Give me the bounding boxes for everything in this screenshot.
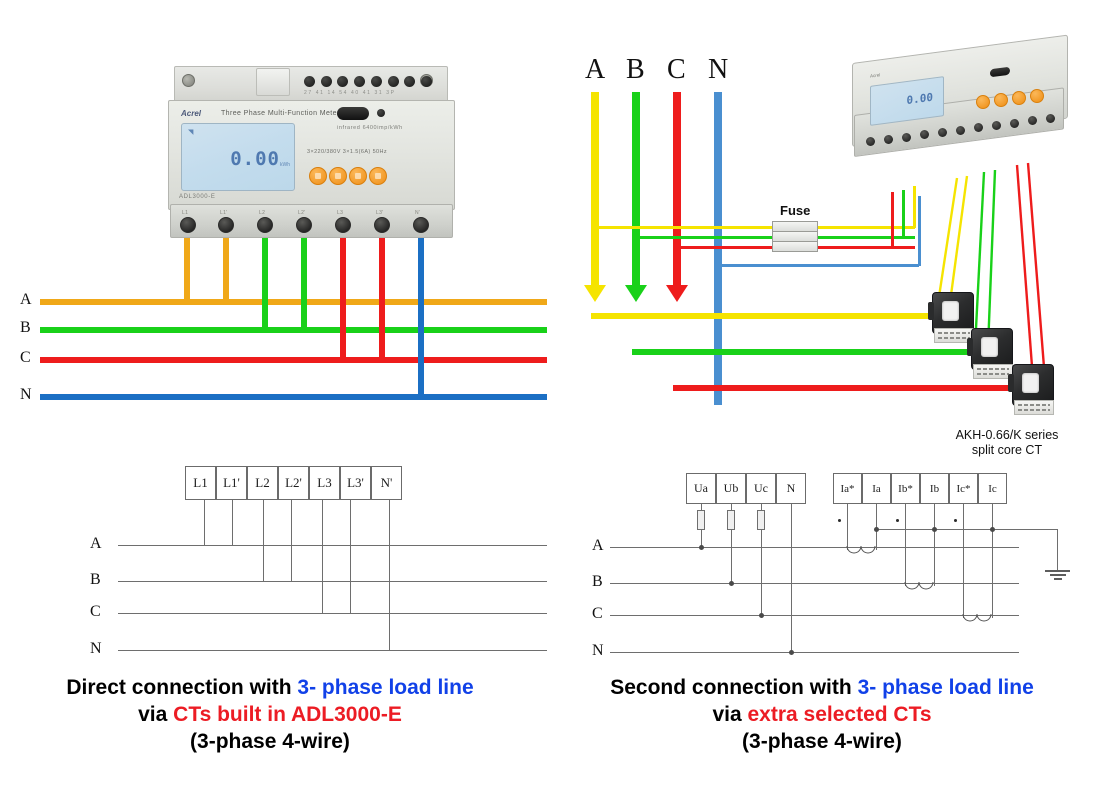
left-caption-line3: (3-phase 4-wire): [10, 728, 530, 755]
schematic-terminal-l1p: L1': [216, 466, 247, 500]
schematic-terminal-l3: L3: [309, 466, 340, 500]
polarity-dot-ic: [954, 519, 957, 522]
schematic-drop-l3: [322, 500, 323, 614]
schematic-node-uc: [759, 613, 764, 618]
schematic-right-row-b: [610, 583, 1019, 584]
schematic-terminal-ib-star: Ib*: [891, 473, 920, 504]
schematic-right-label-a: A: [592, 537, 604, 555]
schematic-terminal-ub: Ub: [716, 473, 746, 504]
schematic-terminal-l2p: L2': [278, 466, 309, 500]
schematic-terminal-l3p: L3': [340, 466, 371, 500]
schematic-terminal-l1: L1: [185, 466, 216, 500]
right-schematic: Ua Ub Uc N Ia* Ia Ib* Ib Ic* Ic: [547, 0, 1094, 700]
schematic-terminal-ia: Ia: [862, 473, 891, 504]
schematic-drop-uc: [761, 504, 762, 510]
schematic-row-n: [118, 650, 547, 651]
schematic-ct-common-bus: [876, 529, 1058, 530]
schematic-right-label-c: C: [592, 605, 603, 623]
schematic-fuse-uc: [757, 510, 765, 530]
schematic-row-a: [118, 545, 547, 546]
schematic-drop-l3p: [350, 500, 351, 614]
schematic-ct-node-c: [990, 527, 995, 532]
schematic-drop-l2p: [291, 500, 292, 582]
left-schematic: L1 L1' L2 L2' L3 L3' N': [0, 0, 547, 700]
schematic-ct-c-left: [963, 504, 964, 618]
schematic-node-ua: [699, 545, 704, 550]
schematic-label-a: A: [90, 535, 102, 553]
left-caption-line2-pre: via: [138, 703, 173, 726]
diagram-canvas: 27 41 14 54 40 41 31 3P Acrel Three Phas…: [0, 0, 1094, 812]
schematic-label-c: C: [90, 603, 101, 621]
left-caption-line1: Direct connection with 3- phase load lin…: [10, 674, 530, 701]
schematic-ct-node-a: [874, 527, 879, 532]
schematic-right-row-n: [610, 652, 1019, 653]
right-caption-line2-highlight: extra selected CTs: [747, 703, 931, 726]
right-caption-line2-pre: via: [712, 703, 747, 726]
schematic-row-c: [118, 613, 547, 614]
schematic-ct-node-b: [932, 527, 937, 532]
schematic-fuse-ua: [697, 510, 705, 530]
right-panel: A B C N Fuse Acrel 0.00: [547, 0, 1094, 812]
schematic-node-ub: [729, 581, 734, 586]
schematic-terminal-ic: Ic: [978, 473, 1007, 504]
left-caption-line1-pre: Direct connection with: [66, 676, 297, 699]
schematic-terminal-np: N': [371, 466, 402, 500]
schematic-right-label-n: N: [592, 642, 604, 660]
schematic-terminal-ua: Ua: [686, 473, 716, 504]
schematic-terminal-n: N: [776, 473, 806, 504]
schematic-ct-coil-b: [901, 580, 939, 596]
schematic-drop-l1p: [232, 500, 233, 546]
schematic-drop-ua: [701, 504, 702, 510]
schematic-terminal-uc: Uc: [746, 473, 776, 504]
polarity-dot-ia: [838, 519, 841, 522]
polarity-dot-ib: [896, 519, 899, 522]
schematic-right-row-c: [610, 615, 1019, 616]
schematic-terminal-ib: Ib: [920, 473, 949, 504]
left-caption-line2-highlight: CTs built in ADL3000-E: [173, 703, 402, 726]
right-caption-line1-pre: Second connection with: [610, 676, 857, 699]
schematic-ct-c-right: [992, 504, 993, 618]
right-caption-line1: Second connection with 3- phase load lin…: [557, 674, 1087, 701]
schematic-label-b: B: [90, 571, 101, 589]
right-caption-line2: via extra selected CTs: [557, 701, 1087, 728]
schematic-drop-l1: [204, 500, 205, 546]
schematic-right-row-a: [610, 547, 1019, 548]
left-panel: 27 41 14 54 40 41 31 3P Acrel Three Phas…: [0, 0, 547, 812]
schematic-ct-b-right: [934, 504, 935, 586]
schematic-drop-l2: [263, 500, 264, 582]
schematic-ct-coil-c: [959, 612, 997, 628]
schematic-drop-np: [389, 500, 390, 651]
left-caption: Direct connection with 3- phase load lin…: [10, 674, 530, 755]
left-caption-line2: via CTs built in ADL3000-E: [10, 701, 530, 728]
schematic-terminal-ic-star: Ic*: [949, 473, 978, 504]
schematic-fuse-ub: [727, 510, 735, 530]
right-caption-line3: (3-phase 4-wire): [557, 728, 1087, 755]
schematic-ct-coil-a: [843, 544, 881, 560]
right-caption: Second connection with 3- phase load lin…: [557, 674, 1087, 755]
schematic-row-b: [118, 581, 547, 582]
schematic-node-n: [789, 650, 794, 655]
schematic-drop-ub: [731, 504, 732, 510]
schematic-terminal-ia-star: Ia*: [833, 473, 862, 504]
schematic-ct-b-left: [905, 504, 906, 586]
schematic-drop-nv: [791, 504, 792, 652]
right-caption-line1-highlight: 3- phase load line: [858, 676, 1034, 699]
schematic-terminal-l2: L2: [247, 466, 278, 500]
schematic-ground-drop: [1057, 529, 1058, 570]
schematic-drop-uc-b: [761, 530, 762, 615]
schematic-right-label-b: B: [592, 573, 603, 591]
earth-ground-icon: [1045, 568, 1070, 582]
schematic-drop-ub-b: [731, 530, 732, 583]
left-caption-line1-highlight: 3- phase load line: [297, 676, 473, 699]
schematic-label-n: N: [90, 640, 102, 658]
